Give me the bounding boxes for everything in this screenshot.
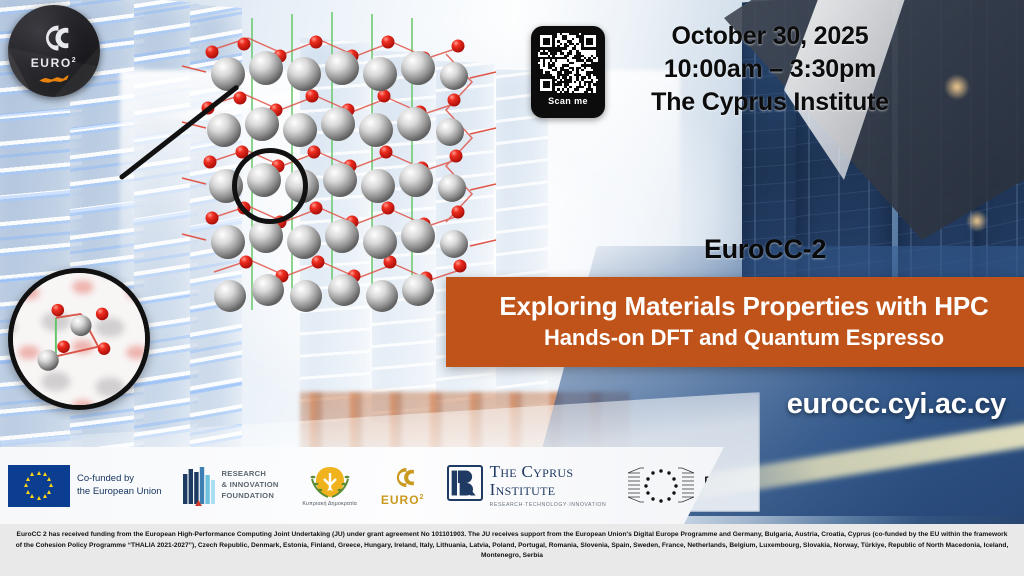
magnifying-glass-icon — [8, 268, 150, 410]
cyi-line1: The Cyprus — [490, 463, 607, 481]
funding-disclaimer: EuroCC 2 has received funding from the E… — [0, 524, 1024, 576]
eu-funding-line1: Co-funded by — [77, 473, 162, 486]
badge-label: EURO2 — [31, 56, 78, 70]
rif-line3: FOUNDATION — [222, 491, 279, 502]
cyi-line3: RESEARCH·TECHNOLOGY·INNOVATION — [490, 502, 607, 508]
rack-glow — [966, 210, 988, 232]
cc-monogram-icon — [34, 21, 74, 55]
rif-bars-icon — [182, 466, 216, 506]
event-venue: The Cyprus Institute — [620, 86, 920, 119]
event-subtitle: Hands-on DFT and Quantum Espresso — [544, 325, 944, 351]
event-date: October 30, 2025 — [620, 20, 920, 53]
magnifier-focus-ring — [232, 148, 308, 224]
disclaimer-text: EuroCC 2 has received funding from the E… — [14, 530, 1010, 562]
rif-line1: RESEARCH — [222, 469, 279, 480]
event-poster: EURO2 Scan me October 30, 2025 10:00am –… — [0, 0, 1024, 576]
euro2-badge-logo[interactable]: EURO2 — [8, 5, 100, 97]
republic-of-cyprus-logo: Κυπριακή Δημοκρατία — [297, 465, 363, 507]
cyprus-institute-logo: The Cyprus Institute RESEARCH·TECHNOLOGY… — [447, 463, 607, 507]
rack-glow — [944, 74, 970, 100]
qr-code-block[interactable]: Scan me — [531, 26, 605, 118]
cyprus-island-icon — [37, 73, 71, 86]
event-time: 10:00am – 3:30pm — [620, 53, 920, 86]
research-innovation-foundation-logo: RESEARCH & INNOVATION FOUNDATION — [182, 466, 279, 506]
badge-name: EURO — [31, 56, 72, 70]
cc-monogram-icon — [373, 464, 433, 491]
eu-funding-text: Co-funded by the European Union — [77, 473, 162, 498]
rif-line2: & INNOVATION — [222, 480, 279, 491]
programme-kicker: EuroCC-2 — [600, 234, 930, 265]
euro2-superscript: 2 — [420, 494, 425, 501]
euro2-wordmark: EURO2 — [373, 493, 433, 507]
event-title: Exploring Materials Properties with HPC — [499, 292, 988, 322]
event-details: October 30, 2025 10:00am – 3:30pm The Cy… — [620, 20, 920, 119]
euro2-logo: EURO2 — [373, 464, 433, 507]
cyprus-caption: Κυπριακή Δημοκρατία — [297, 501, 363, 507]
event-url[interactable]: eurocc.cyi.ac.cy — [660, 388, 1020, 421]
cyi-line2: Institute — [490, 481, 607, 499]
eu-funding-line2: the European Union — [77, 486, 162, 499]
cyi-wordmark: The Cyprus Institute RESEARCH·TECHNOLOGY… — [490, 463, 607, 507]
qr-label: Scan me — [538, 96, 598, 106]
qr-code-icon[interactable] — [538, 33, 598, 93]
cyi-monogram-icon — [447, 465, 483, 501]
cyprus-coat-of-arms-icon — [297, 465, 363, 499]
eu-flag-icon — [8, 465, 70, 507]
title-banner: Exploring Materials Properties with HPC … — [446, 277, 1024, 367]
badge-superscript: 2 — [72, 57, 78, 64]
rif-wordmark: RESEARCH & INNOVATION FOUNDATION — [222, 469, 279, 501]
eu-flag-logo: Co-funded by the European Union — [8, 465, 162, 507]
eurohpc-stars-icon — [624, 465, 698, 507]
euro2-label: EURO — [381, 493, 420, 507]
